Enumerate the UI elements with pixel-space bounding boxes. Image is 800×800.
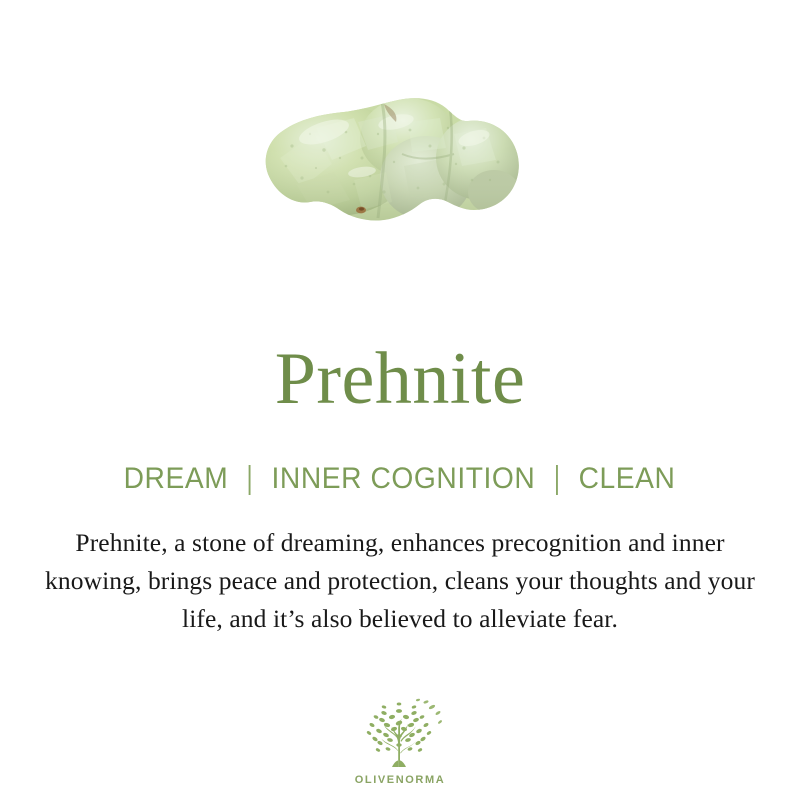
keyword-separator-icon (249, 465, 251, 495)
brand-logo: OLIVENORMA (0, 695, 800, 786)
olive-tree-icon (354, 695, 446, 771)
prehnite-crystal-photo (258, 88, 526, 236)
keyword-dream: DREAM (124, 462, 229, 496)
keyword-inner-cognition: INNER COGNITION (272, 462, 536, 496)
crystal-info-card: Prehnite DREAM INNER COGNITION CLEAN Pre… (0, 0, 800, 800)
brand-name: OLIVENORMA (355, 774, 446, 786)
specimen-image-area (0, 0, 800, 320)
keyword-list: DREAM INNER COGNITION CLEAN (124, 462, 676, 496)
page-title: Prehnite (275, 320, 526, 416)
keyword-clean: CLEAN (579, 462, 676, 496)
description-text: Prehnite, a stone of dreaming, enhances … (34, 524, 766, 638)
keyword-separator-icon (556, 465, 558, 495)
